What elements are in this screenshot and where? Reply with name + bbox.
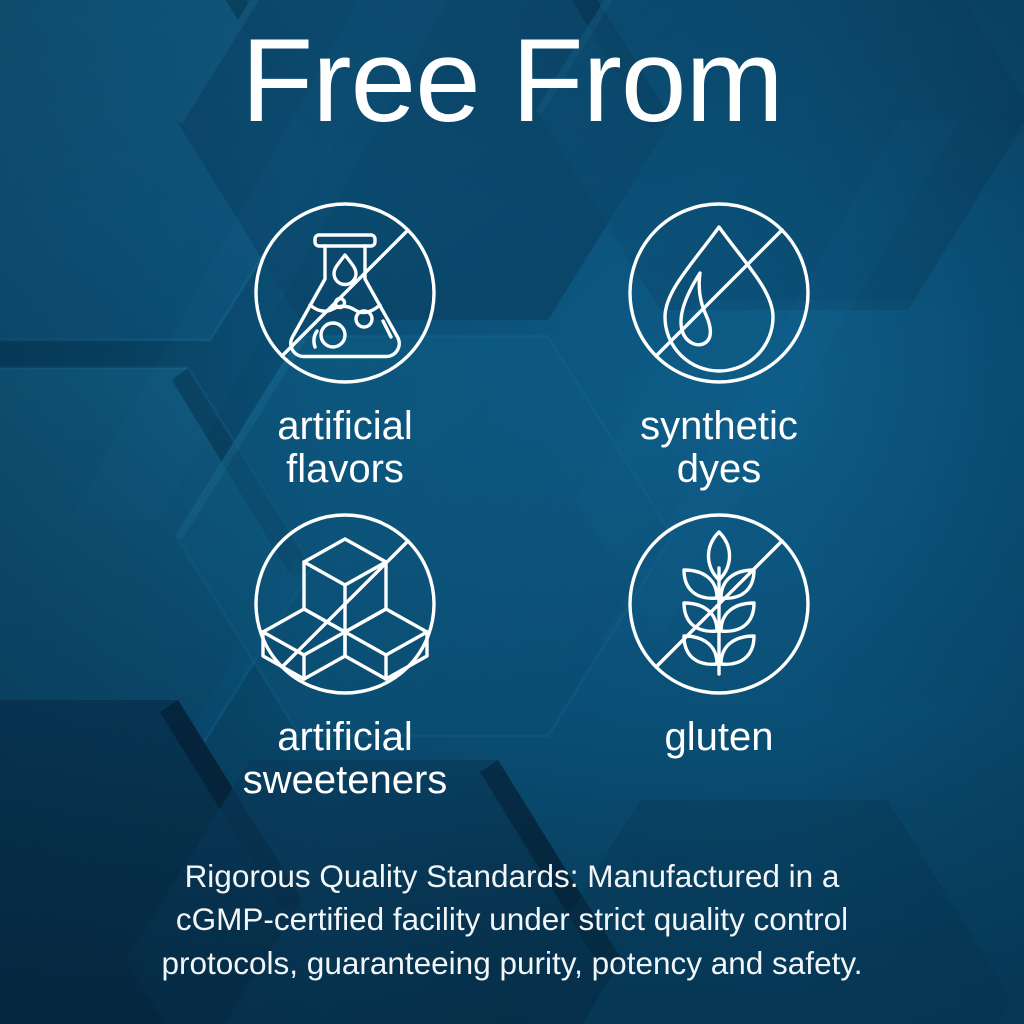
- footer-line-2: cGMP-certified facility under strict qua…: [62, 898, 962, 941]
- no-wheat-icon: [621, 506, 817, 702]
- quality-standards-footer: Rigorous Quality Standards: Manufactured…: [62, 855, 962, 985]
- badge-gluten: gluten: [569, 506, 869, 759]
- badge-artificial-flavors: artificial flavors: [195, 195, 495, 491]
- badge-label-artificial-sweeteners: artificial sweeteners: [195, 716, 495, 802]
- badge-label-gluten: gluten: [569, 716, 869, 759]
- page-title: Free From: [0, 22, 1024, 140]
- badge-artificial-sweeteners: artificial sweeteners: [195, 506, 495, 802]
- no-sugar-cubes-icon: [247, 506, 443, 702]
- free-from-infographic: Free From: [0, 0, 1024, 1024]
- footer-line-3: protocols, guaranteeing purity, potency …: [62, 942, 962, 985]
- no-droplet-icon: [621, 195, 817, 391]
- badge-label-synthetic-dyes: synthetic dyes: [569, 405, 869, 491]
- badge-label-artificial-flavors: artificial flavors: [195, 405, 495, 491]
- badge-synthetic-dyes: synthetic dyes: [569, 195, 869, 491]
- footer-line-1: Rigorous Quality Standards: Manufactured…: [62, 855, 962, 898]
- no-flask-icon: [247, 195, 443, 391]
